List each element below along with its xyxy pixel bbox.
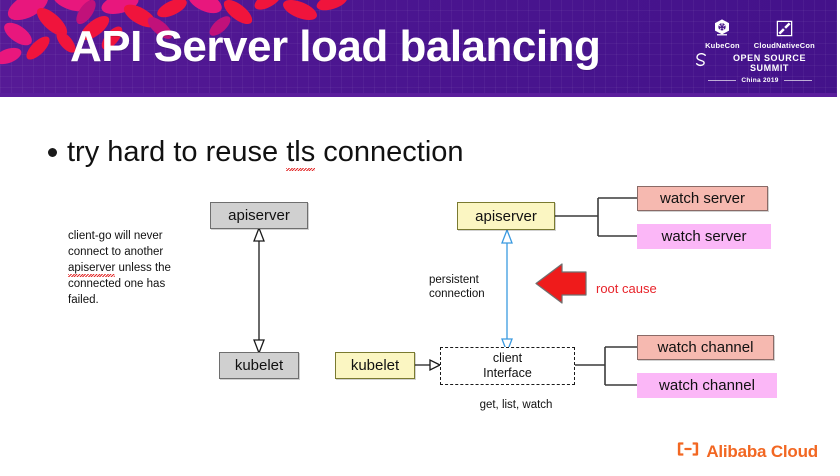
conference-logo-block: KubeCon CloudNativeCon — [694, 14, 826, 84]
slide-banner: API Server load balancing — [0, 0, 840, 96]
verbs-caption: get, list, watch — [456, 398, 576, 412]
rule-right — [784, 80, 812, 81]
open-source-summit-s-icon — [694, 52, 709, 74]
cloudnativecon-label: CloudNativeCon — [754, 41, 815, 50]
bullet-text-before: try hard to reuse — [67, 136, 286, 168]
note-line-1: client-go will never — [68, 230, 163, 242]
alibaba-cloud-label: Alibaba Cloud — [706, 442, 818, 462]
conference-year: China 2019 — [741, 77, 778, 84]
bullet-line: try hard to reuse tls connection — [48, 136, 464, 169]
watch-channel-label-1: watch channel — [658, 339, 754, 356]
client-interface-line-2: Interface — [483, 366, 532, 381]
open-source-summit-label: OPEN SOURCE SUMMIT — [713, 53, 826, 73]
rule-left — [708, 80, 736, 81]
kubecon-label: KubeCon — [705, 41, 740, 50]
bullet-dot-icon — [48, 148, 57, 157]
alibaba-cloud-icon — [677, 441, 699, 462]
page-title: API Server load balancing — [70, 22, 600, 72]
watch-channel-node-2[interactable]: watch channel — [637, 373, 777, 398]
right-kubelet-label: kubelet — [351, 357, 399, 374]
bullet-misspelled-word: tls — [286, 136, 315, 168]
right-apiserver-label: apiserver — [475, 208, 537, 225]
left-kubelet-label: kubelet — [235, 357, 283, 374]
persistent-connection-caption: persistent connection — [429, 273, 499, 301]
alibaba-cloud-logo: Alibaba Cloud — [677, 441, 818, 462]
left-double-arrow — [254, 228, 264, 353]
watch-channel-node-1[interactable]: watch channel — [637, 335, 774, 360]
watch-channel-label-2: watch channel — [659, 377, 755, 394]
apiserver-to-watch-servers-bracket — [554, 198, 638, 236]
client-interface-line-1: client — [493, 351, 522, 366]
client-go-note: client-go will neverconnect to anotherap… — [68, 228, 218, 308]
note-line-5: failed. — [68, 294, 99, 306]
watch-server-label-1: watch server — [660, 190, 745, 207]
note-line-2: connect to another — [68, 246, 163, 258]
kubernetes-helm-icon — [712, 17, 732, 39]
persistent-connection-line-2: connection — [429, 288, 485, 300]
left-apiserver-node[interactable]: apiserver — [210, 202, 308, 229]
root-cause-label: root cause — [596, 281, 657, 296]
persistent-connection-arrow — [502, 230, 512, 352]
watch-server-node-1[interactable]: watch server — [637, 186, 768, 211]
kubecon-mark: KubeCon — [705, 17, 740, 50]
watch-server-label-2: watch server — [661, 228, 746, 245]
note-line-3: unless the — [115, 262, 171, 274]
left-kubelet-node[interactable]: kubelet — [219, 352, 299, 379]
cloudnativecon-square-icon — [775, 17, 794, 39]
bullet-text-after: connection — [315, 136, 463, 168]
left-apiserver-label: apiserver — [228, 207, 290, 224]
right-kubelet-node[interactable]: kubelet — [335, 352, 415, 379]
cloudnativecon-mark: CloudNativeCon — [754, 17, 815, 50]
persistent-connection-line-1: persistent — [429, 274, 479, 286]
bullet-text: try hard to reuse tls connection — [67, 136, 464, 169]
client-interface-to-watch-channels-bracket — [574, 347, 638, 385]
right-apiserver-node[interactable]: apiserver — [457, 202, 555, 230]
client-interface-node[interactable]: client Interface — [440, 347, 575, 385]
banner-underline — [0, 93, 840, 97]
kubelet-to-client-arrow — [415, 360, 440, 370]
slide: API Server load balancing — [0, 0, 840, 476]
verbs-caption-label: get, list, watch — [480, 399, 553, 411]
root-cause-arrow-icon — [536, 264, 586, 303]
note-misspelled-word: apiserver — [68, 262, 115, 274]
watch-server-node-2[interactable]: watch server — [637, 224, 771, 249]
note-line-4: connected one has — [68, 278, 165, 290]
